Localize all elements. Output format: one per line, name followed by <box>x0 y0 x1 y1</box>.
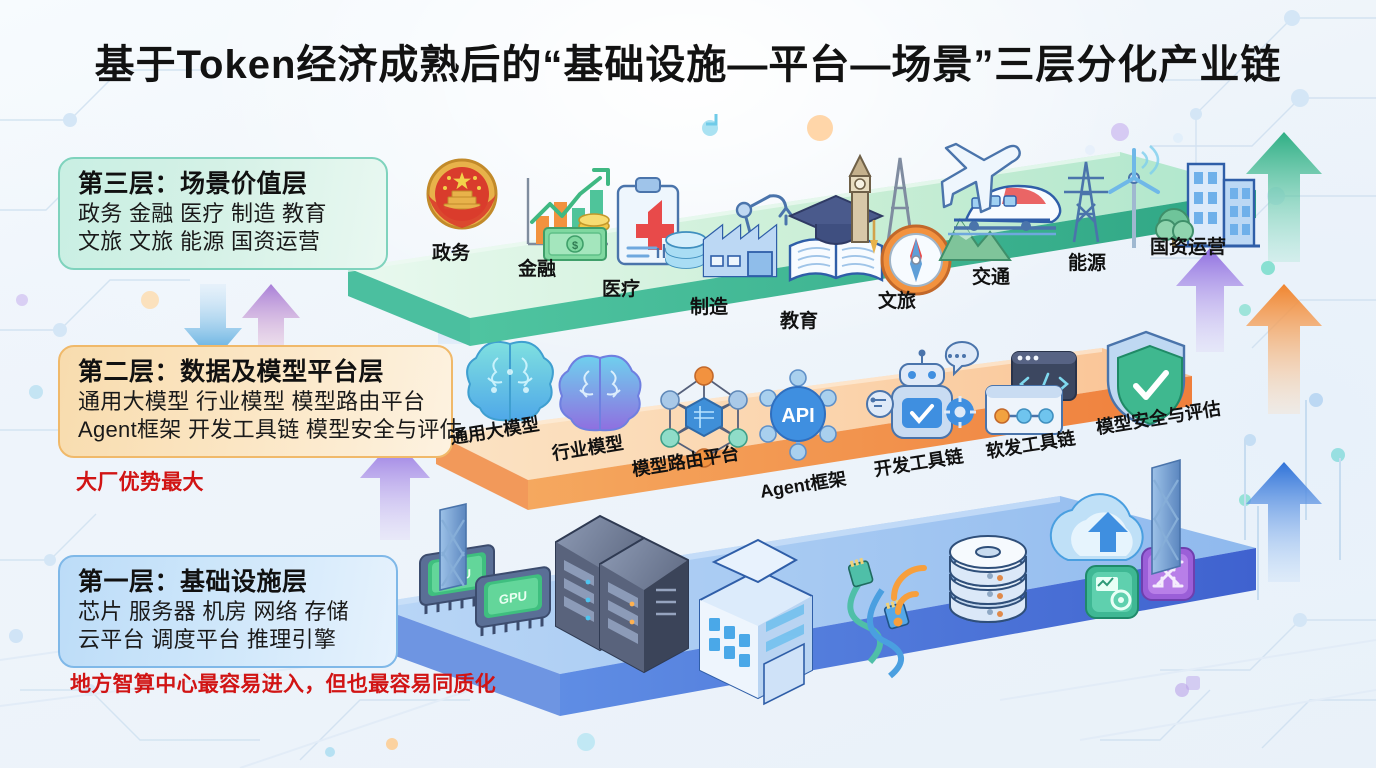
arrow-up-blue-right <box>1246 462 1322 582</box>
layer1-keywords-line1: 芯片 服务器 机房 网络 存储 <box>78 598 378 626</box>
layer2-heading: 第二层：数据及模型平台层 <box>78 357 433 388</box>
svg-text:API: API <box>781 405 814 427</box>
label-jiaotong: 交通 <box>972 262 1010 289</box>
big-ben-icon <box>850 156 870 242</box>
label-nengyuan: 能源 <box>1068 248 1106 275</box>
label-wenlv: 文旅 <box>878 286 916 313</box>
support-pillar-right <box>1152 460 1180 574</box>
layer2-info-card: 第二层：数据及模型平台层 通用大模型 行业模型 模型路由平台 Agent框架 开… <box>58 345 453 458</box>
page-title: 基于Token经济成熟后的“基础设施—平台—场景”三层分化产业链 <box>0 32 1376 90</box>
storage-disk-stack-icon <box>950 536 1026 622</box>
label-jiaoyu: 教育 <box>780 306 818 333</box>
label-jinrong: 金融 <box>518 254 556 281</box>
support-pillar-left <box>440 504 466 590</box>
brain-purple-icon <box>560 356 641 430</box>
layer2-note: 大厂优势最大 <box>76 466 204 496</box>
label-zhengwu: 政务 <box>432 238 470 265</box>
brain-teal-icon <box>467 342 553 420</box>
arrow-up-green-right <box>1246 132 1322 262</box>
arrow-up-purple-right <box>1176 248 1244 352</box>
layer1-heading: 第一层：基础设施层 <box>78 567 378 598</box>
layer3-heading: 第三层：场景价值层 <box>78 169 368 200</box>
layer1-info-card: 第一层：基础设施层 芯片 服务器 机房 网络 存储 云平台 调度平台 推理引擎 <box>58 555 398 668</box>
arrow-up-orange-right <box>1246 284 1322 414</box>
label-guozi-yunying: 国资运营 <box>1150 232 1226 259</box>
layer3-info-card: 第三层：场景价值层 政务 金融 医疗 制造 教育 文旅 文旅 能源 国资运营 <box>58 157 388 270</box>
label-yiliao: 医疗 <box>602 274 640 301</box>
monitoring-dashboard-icon <box>1086 566 1138 618</box>
layer2-keywords-line2: Agent框架 开发工具链 模型安全与评估 <box>78 416 433 444</box>
layer1-keywords-line2: 云平台 调度平台 推理引擎 <box>78 626 378 654</box>
government-emblem-icon <box>428 160 496 228</box>
label-zhizao: 制造 <box>690 292 728 319</box>
layer3-keywords-line1: 政务 金融 医疗 制造 教育 <box>78 200 368 228</box>
svg-text:$: $ <box>572 240 578 252</box>
layer3-keywords-line2: 文旅 文旅 能源 国资运营 <box>78 228 368 256</box>
infographic-canvas: GPU GPU <box>0 0 1376 768</box>
layer1-note: 地方智算中心最容易进入，但也最容易同质化 <box>70 668 496 698</box>
layer2-keywords-line1: 通用大模型 行业模型 模型路由平台 <box>78 388 433 416</box>
